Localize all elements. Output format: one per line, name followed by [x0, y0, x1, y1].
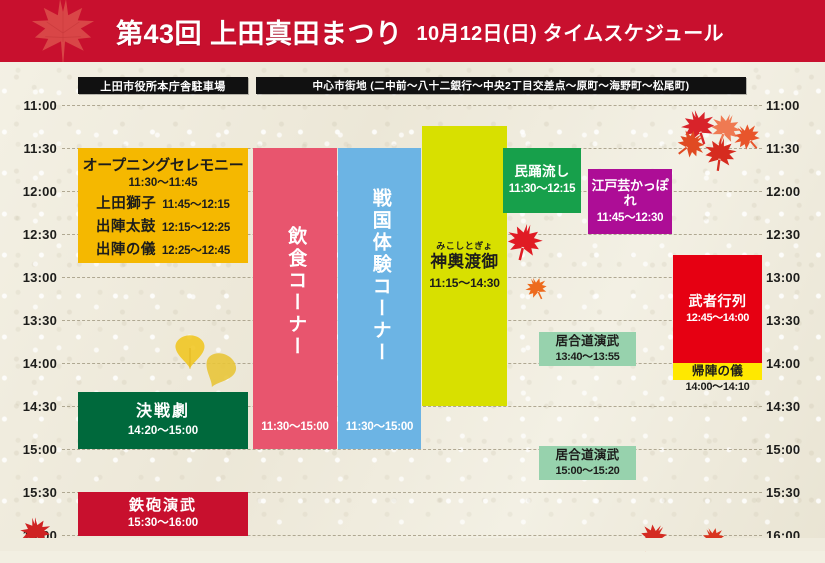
event-block-iaido-enbu-1[interactable]: 居合道演武 13:40～13:55	[539, 332, 636, 366]
event-block-teppou-enbu[interactable]: 鉄砲演武 15:30～16:00	[78, 492, 248, 536]
gridline-1100	[62, 105, 762, 106]
event-sub-item: 出陣の儀 12:25～12:45	[96, 242, 230, 259]
event-time-kijin-no-gi: 14:00～14:10	[673, 380, 762, 394]
maple-leaf-icon	[666, 121, 714, 169]
tick-left-1300: 13:00	[23, 271, 57, 284]
event-time: 11:30～11:45	[128, 177, 197, 191]
event-sub-title: 上田獅子	[96, 196, 156, 213]
event-sub-time: 11:45～12:15	[162, 199, 230, 213]
event-title: 帰陣の儀	[692, 364, 743, 379]
gridline-1500	[62, 449, 762, 450]
bottom-decoration	[0, 538, 825, 551]
event-block-edogei-kappore[interactable]: 江戸芸かっぽれ 11:45～12:30	[588, 169, 672, 234]
tick-left-1400: 14:00	[23, 357, 57, 370]
event-time: 15:30～16:00	[128, 517, 198, 531]
event-title: 鉄砲演武	[129, 497, 197, 515]
event-time: 12:45～14:00	[686, 312, 749, 325]
event-time: 11:45～12:30	[597, 212, 663, 226]
maple-leaf-icon	[725, 115, 770, 160]
tick-right-1400: 14:00	[766, 357, 800, 370]
maple-leaf-icon	[702, 107, 749, 154]
venue-header-left: 上田市役所本庁舎駐車場	[78, 77, 248, 94]
event-time: 14:20～15:00	[128, 425, 198, 439]
event-time: 11:30～15:00	[253, 421, 337, 435]
tick-left-1430: 14:30	[23, 400, 57, 413]
tick-right-1500: 15:00	[766, 443, 800, 456]
ginkgo-leaf-icon	[168, 332, 212, 372]
tick-right-1130: 11:30	[766, 142, 800, 155]
tick-right-1430: 14:30	[766, 400, 800, 413]
event-block-mikoshi-togyo[interactable]: みこしとぎょ 神輿渡御 11:15～14:30	[422, 126, 507, 406]
event-time: 15:00～15:20	[556, 465, 620, 478]
event-title: 居合道演武	[555, 448, 619, 463]
tick-right-1200: 12:00	[766, 185, 800, 198]
page-title: 第43回 上田真田まつり	[116, 12, 403, 51]
event-block-food-corner[interactable]: 飲食コーナー 11:30～15:00	[253, 148, 337, 449]
event-sub-title: 出陣太鼓	[96, 219, 156, 236]
event-sub-item: 上田獅子 11:45～12:15	[96, 196, 230, 213]
venue-header-right: 中心市街地 (二中前～八十二銀行～中央2丁目交差点～原町～海野町～松尾町)	[256, 77, 746, 94]
event-title: 江戸芸かっぽれ	[588, 178, 672, 209]
maple-leaf-icon	[699, 134, 742, 177]
tick-right-1100: 11:00	[766, 99, 800, 112]
tick-left-1200: 12:00	[23, 185, 57, 198]
event-title: 戦国体験コーナー	[368, 188, 390, 364]
tick-left-1500: 15:00	[23, 443, 57, 456]
event-block-kessengeki[interactable]: 決戦劇 14:20～15:00	[78, 392, 248, 449]
event-title: 武者行列	[689, 293, 747, 310]
event-time: 11:30～15:00	[338, 421, 421, 435]
page-subtitle: 10月12日(日) タイムスケジュール	[417, 17, 724, 46]
event-sub-time: 12:15～12:25	[162, 222, 230, 236]
event-time: 11:30～12:15	[509, 183, 575, 197]
event-sub-item: 出陣太鼓 12:15～12:25	[96, 219, 230, 236]
event-block-kijin-no-gi[interactable]: 帰陣の儀	[673, 363, 762, 380]
event-title: 飲食コーナー	[284, 226, 306, 358]
maple-leaf-icon	[674, 103, 724, 153]
event-block-musha-gyoretsu[interactable]: 武者行列 12:45～14:00	[673, 255, 762, 363]
maple-leaf-icon	[24, 0, 102, 62]
title-banner: 第43回 上田真田まつり 10月12日(日) タイムスケジュール	[0, 0, 825, 62]
tick-left-1230: 12:30	[23, 228, 57, 241]
event-block-opening-ceremony[interactable]: オープニングセレモニー 11:30～11:45 上田獅子 11:45～12:15…	[78, 148, 248, 263]
event-title: 決戦劇	[136, 403, 190, 422]
event-block-iaido-enbu-2[interactable]: 居合道演武 15:00～15:20	[539, 446, 636, 480]
event-sub-title: 出陣の儀	[96, 242, 156, 259]
event-furigana: みこしとぎょ	[436, 241, 493, 252]
tick-left-1330: 13:30	[23, 314, 57, 327]
event-title: 神輿渡御	[431, 253, 499, 272]
tick-right-1330: 13:30	[766, 314, 800, 327]
event-time: 14:00～14:10	[686, 381, 750, 394]
event-time: 13:40～13:55	[556, 351, 620, 364]
ginkgo-leaf-icon	[189, 342, 248, 399]
event-block-minyou-nagashi[interactable]: 民踊流し 11:30～12:15	[503, 148, 581, 213]
tick-left-1130: 11:30	[23, 142, 57, 155]
event-time: 11:15～14:30	[429, 276, 500, 290]
tick-right-1530: 15:30	[766, 486, 800, 499]
event-title: オープニングセレモニー	[83, 157, 244, 175]
event-sub-time: 12:25～12:45	[162, 245, 230, 259]
tick-left-1100: 11:00	[23, 99, 57, 112]
tick-right-1300: 13:00	[766, 271, 800, 284]
title-text-group: 第43回 上田真田まつり 10月12日(日) タイムスケジュール	[116, 0, 724, 62]
schedule-grid: 11:00 11:30 12:00 12:30 13:00 13:30 14:0…	[0, 98, 825, 538]
tick-left-1530: 15:30	[23, 486, 57, 499]
event-title: 居合道演武	[555, 334, 619, 349]
event-block-sengoku-experience-corner[interactable]: 戦国体験コーナー 11:30～15:00	[338, 148, 421, 449]
event-title: 民踊流し	[514, 164, 569, 180]
tick-right-1230: 12:30	[766, 228, 800, 241]
